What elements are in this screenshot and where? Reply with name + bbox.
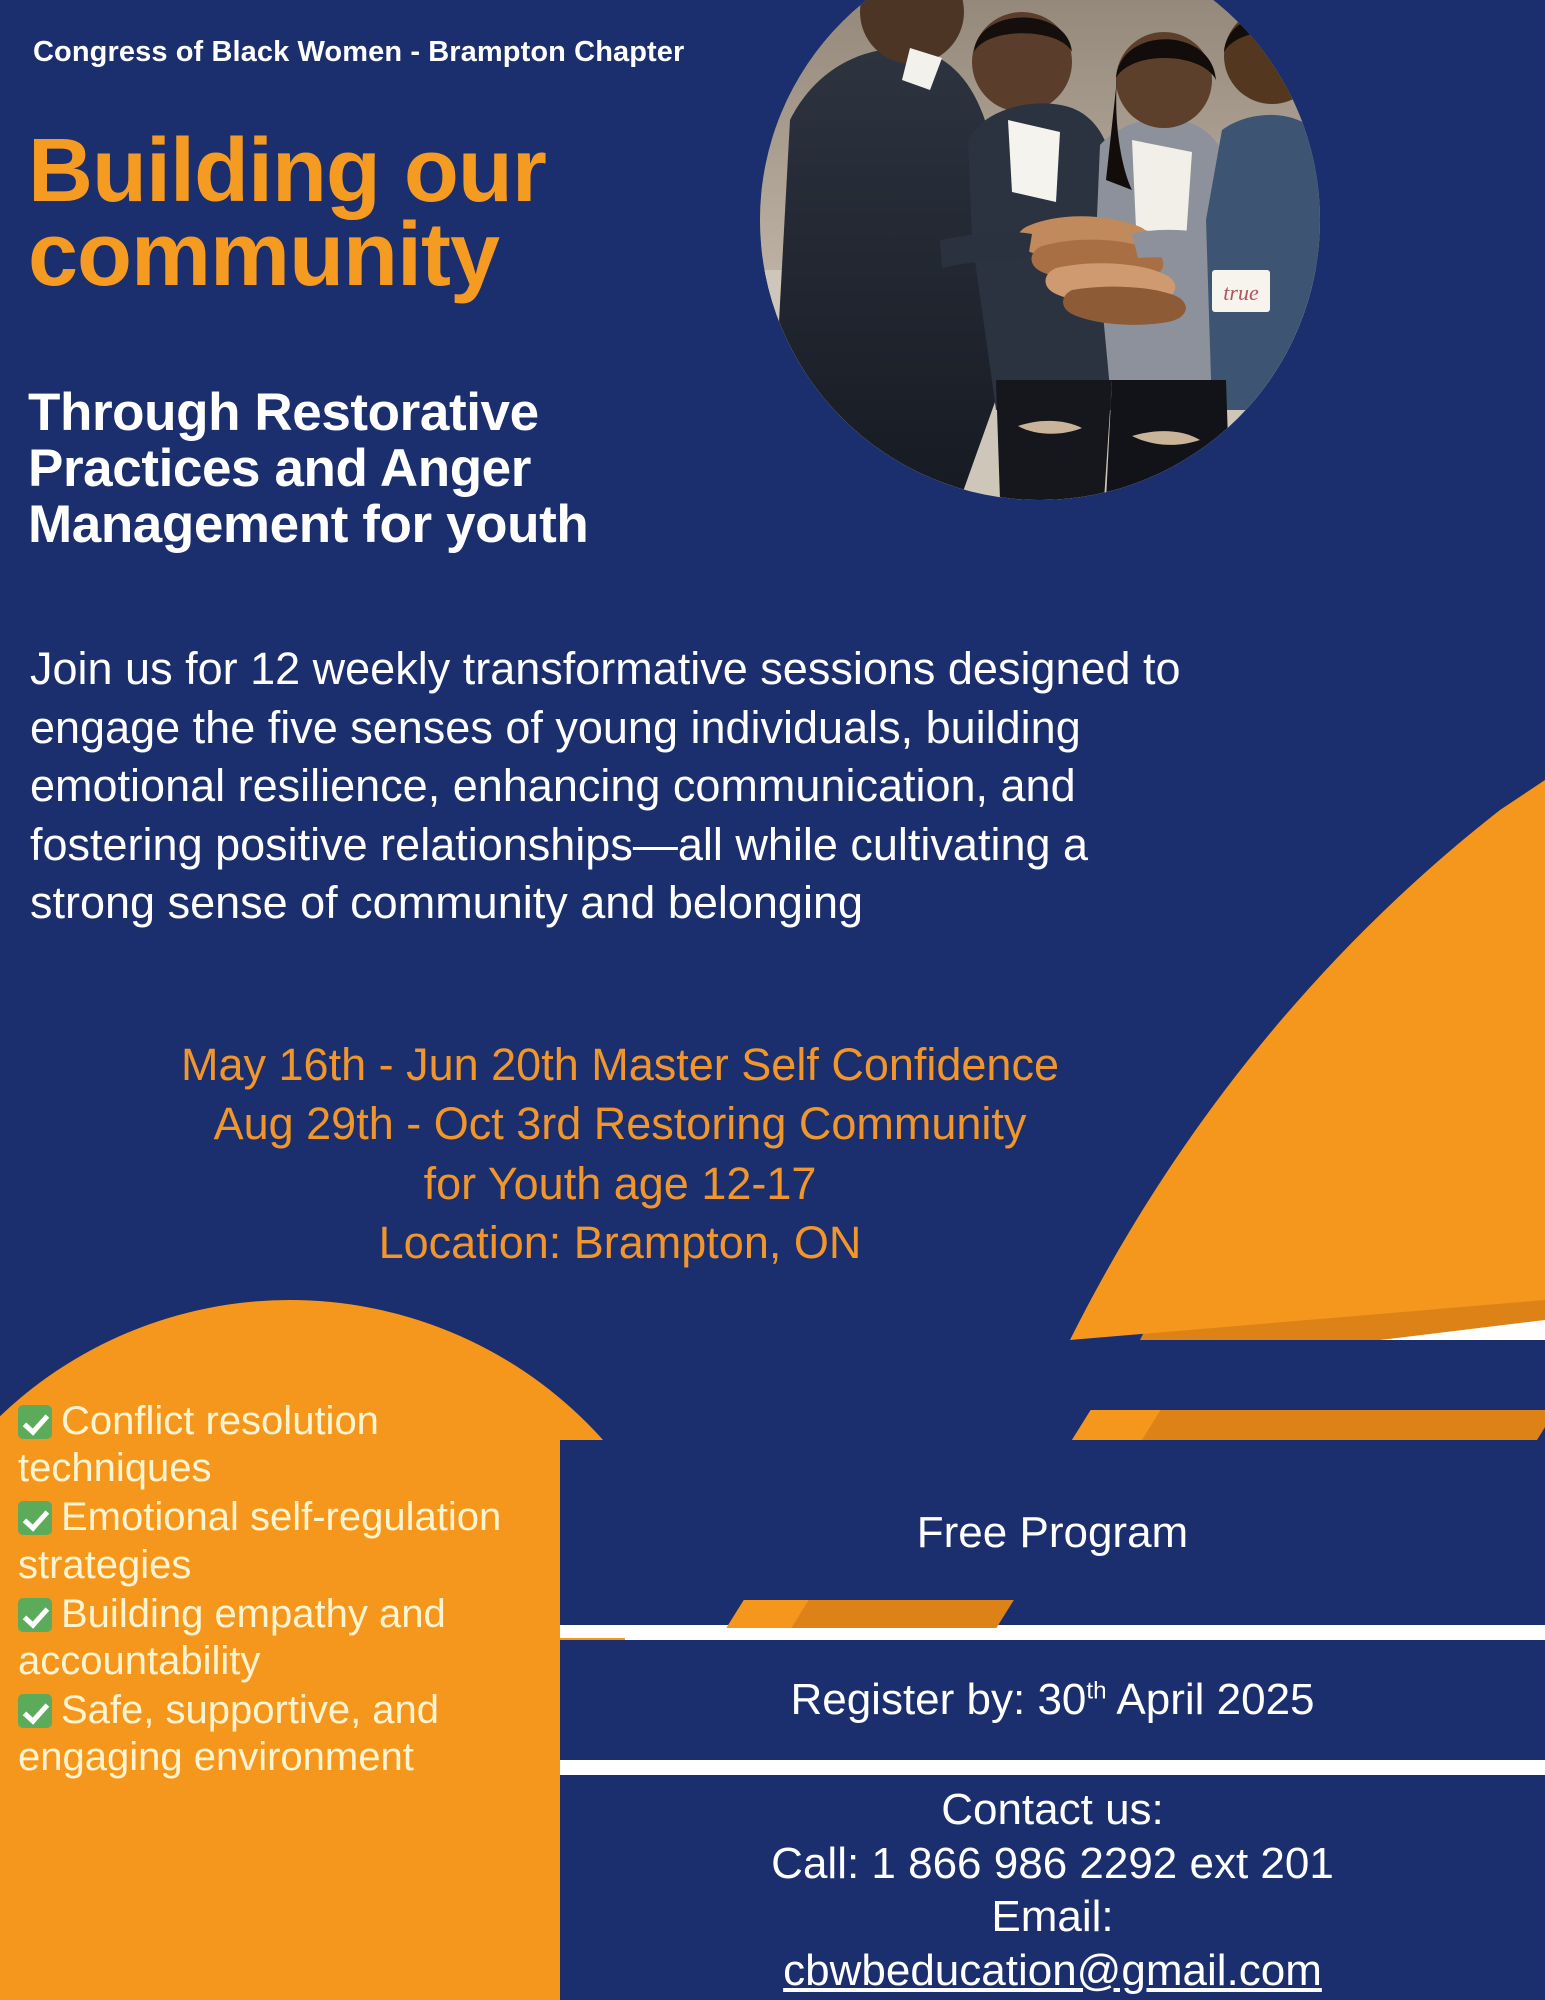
register-suffix: April 2025 bbox=[1107, 1675, 1315, 1724]
svg-text:true: true bbox=[1223, 280, 1259, 305]
page-title: Building our community bbox=[28, 130, 728, 297]
benefit-label: Building empathy and accountability bbox=[18, 1592, 446, 1683]
benefit-label: Emotional self-regulation strategies bbox=[18, 1495, 501, 1586]
check-mark-icon bbox=[18, 1694, 52, 1728]
free-program-banner: Free Program bbox=[560, 1440, 1545, 1625]
check-mark-icon bbox=[18, 1501, 52, 1535]
contact-heading: Contact us: bbox=[560, 1783, 1545, 1837]
benefit-label: Safe, supportive, and engaging environme… bbox=[18, 1688, 439, 1779]
list-item: Safe, supportive, and engaging environme… bbox=[18, 1687, 518, 1781]
list-item: Building empathy and accountability bbox=[18, 1591, 518, 1685]
list-item: Conflict resolution techniques bbox=[18, 1398, 518, 1492]
register-prefix: Register by: 30 bbox=[790, 1675, 1086, 1724]
page-subtitle: Through Restorative Practices and Anger … bbox=[28, 385, 768, 554]
check-mark-icon bbox=[18, 1405, 52, 1439]
orange-accent-bar-top-shade bbox=[1139, 1410, 1545, 1444]
orange-accent-bar-middle-shade bbox=[791, 1600, 1013, 1628]
register-ordinal: th bbox=[1086, 1677, 1106, 1704]
contact-banner: Contact us: Call: 1 866 986 2292 ext 201… bbox=[560, 1775, 1545, 2000]
list-item: Emotional self-regulation strategies bbox=[18, 1494, 518, 1588]
flyer-poster: true Congress of Black Women - Brampton … bbox=[0, 0, 1545, 2000]
free-program-label: Free Program bbox=[917, 1508, 1188, 1558]
contact-email-label: Email: bbox=[560, 1890, 1545, 1944]
contact-phone[interactable]: Call: 1 866 986 2292 ext 201 bbox=[560, 1837, 1545, 1891]
benefits-list: Conflict resolution techniques Emotional… bbox=[18, 1398, 518, 1784]
benefit-label: Conflict resolution techniques bbox=[18, 1399, 379, 1490]
banner-divider bbox=[560, 1760, 1545, 1775]
banner-divider bbox=[560, 1625, 1545, 1640]
contact-email-link[interactable]: cbwbeducation@gmail.com bbox=[783, 1946, 1322, 1995]
register-deadline: Register by: 30th April 2025 bbox=[790, 1675, 1314, 1725]
check-mark-icon bbox=[18, 1598, 52, 1632]
orange-swoosh-decoration bbox=[840, 780, 1545, 1340]
organization-name: Congress of Black Women - Brampton Chapt… bbox=[33, 36, 684, 69]
register-by-banner: Register by: 30th April 2025 bbox=[560, 1640, 1545, 1760]
